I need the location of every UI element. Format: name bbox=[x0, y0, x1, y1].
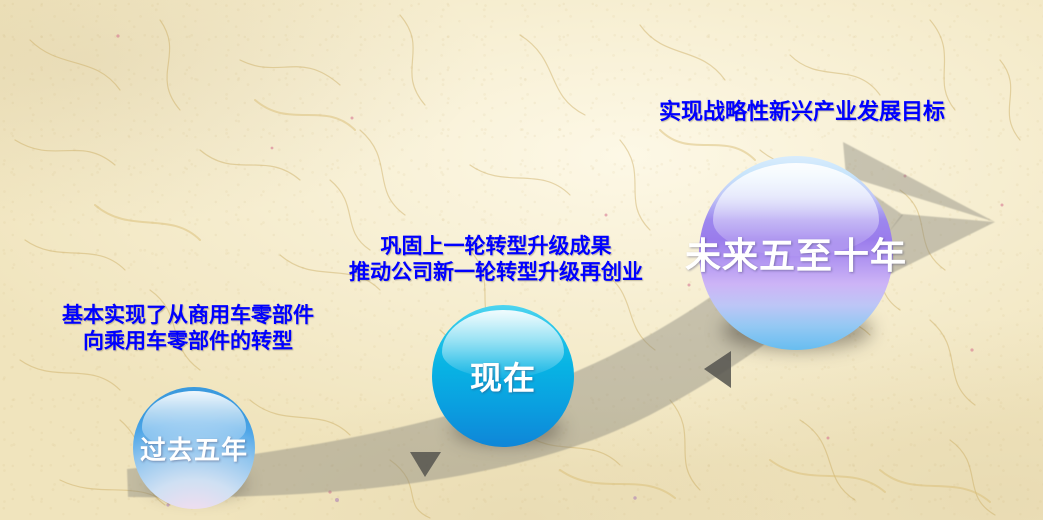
stage-node-now[interactable]: 现在 bbox=[432, 305, 574, 447]
slide-canvas: 基本实现了从商用车零部件 向乘用车零部件的转型 巩固上一轮转型升级成果 推动公司… bbox=[0, 0, 1043, 520]
stage-caption-future: 实现战略性新兴产业发展目标 bbox=[659, 99, 945, 126]
stage-caption-past: 基本实现了从商用车零部件 向乘用车零部件的转型 bbox=[62, 303, 314, 354]
stage-node-past[interactable]: 过去五年 bbox=[133, 387, 255, 509]
stage-label-future: 未来五至十年 bbox=[685, 227, 907, 279]
stage-caption-now: 巩固上一轮转型升级成果 推动公司新一轮转型升级再创业 bbox=[349, 234, 643, 285]
stage-node-future[interactable]: 未来五至十年 bbox=[699, 156, 893, 350]
stage-label-now: 现在 bbox=[470, 353, 536, 399]
stage-label-past: 过去五年 bbox=[140, 430, 248, 467]
